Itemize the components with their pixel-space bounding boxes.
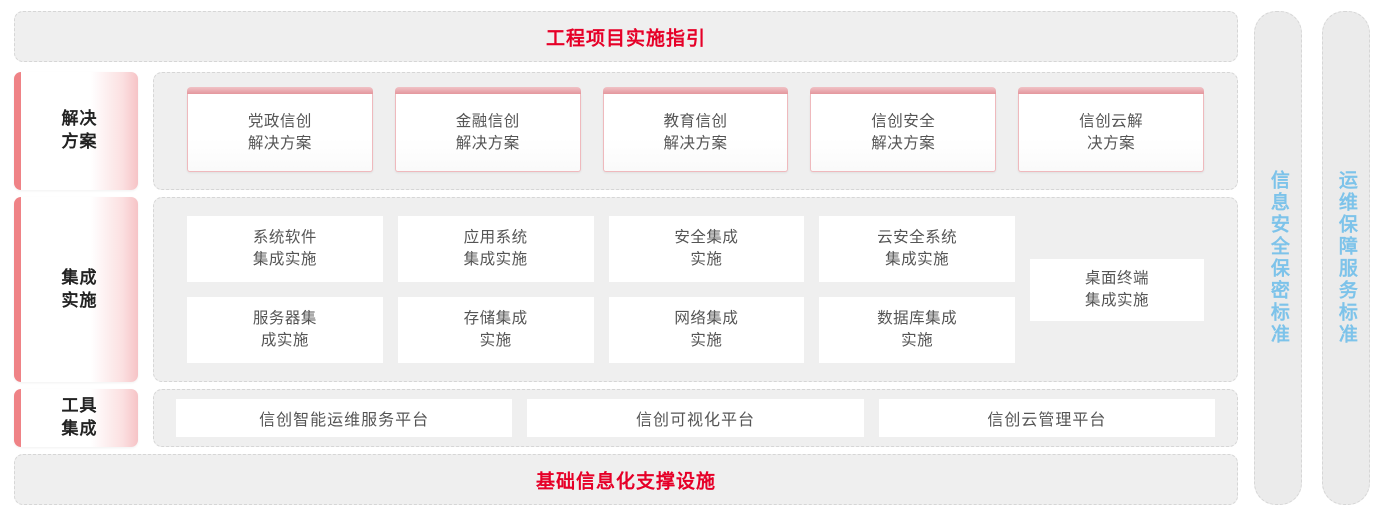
- integration-card-line1: 数据库集成: [877, 310, 957, 327]
- tool-card[interactable]: 信创智能运维服务平台: [176, 399, 512, 437]
- desktop-terminal-cell: 桌面终端 集成实施: [1030, 216, 1204, 363]
- solution-card-text: 党政信创 解决方案: [248, 111, 312, 155]
- integration-card-line2: 集成实施: [464, 251, 528, 268]
- solution-card-text: 教育信创 解决方案: [663, 111, 727, 155]
- integration-card-line2: 集成实施: [253, 251, 317, 268]
- solution-card-line1: 党政信创: [248, 113, 312, 130]
- solution-card[interactable]: 党政信创 解决方案: [187, 94, 373, 172]
- integration-card-line1: 系统软件: [253, 229, 317, 246]
- integration-card-line2: 成实施: [261, 332, 309, 349]
- desktop-card-line2: 集成实施: [1085, 292, 1149, 309]
- solution-card-line1: 信创云解: [1079, 113, 1143, 130]
- integration-card[interactable]: 云安全系统 集成实施: [819, 216, 1015, 282]
- solution-card-text: 金融信创 解决方案: [456, 111, 520, 155]
- tool-card[interactable]: 信创可视化平台: [527, 399, 863, 437]
- integration-card-line1: 应用系统: [464, 229, 528, 246]
- row-label-integration: 集成 实施: [14, 197, 138, 382]
- desktop-card-line1: 桌面终端: [1085, 270, 1149, 287]
- integration-card-text: 存储集成 实施: [464, 308, 528, 352]
- row-panel-tools: 信创智能运维服务平台 信创可视化平台 信创云管理平台: [153, 389, 1238, 447]
- integration-card-line2: 实施: [480, 332, 512, 349]
- footer-title: 基础信息化支撑设施: [15, 466, 1237, 493]
- integration-card-text: 服务器集 成实施: [253, 308, 317, 352]
- integration-card-line2: 实施: [690, 332, 722, 349]
- integration-card-line1: 网络集成: [674, 310, 738, 327]
- integration-card-line2: 集成实施: [885, 251, 949, 268]
- integration-card-grid: 系统软件 集成实施 应用系统 集成实施 安全: [187, 216, 1015, 363]
- row-panel-solution: 党政信创 解决方案 金融信创 解决方案 教育信创 解决方案: [153, 72, 1238, 190]
- desktop-card-text: 桌面终端 集成实施: [1085, 268, 1149, 312]
- integration-card[interactable]: 数据库集成 实施: [819, 297, 1015, 363]
- row-solution: 解决 方案 党政信创 解决方案 金融信创 解决方案: [14, 72, 1238, 190]
- integration-card[interactable]: 安全集成 实施: [609, 216, 805, 282]
- row-label-solution: 解决 方案: [14, 72, 138, 190]
- diagram-canvas: 工程项目实施指引 解决 方案 党政信创 解决方案: [0, 0, 1390, 515]
- solution-card-line1: 金融信创: [456, 113, 520, 130]
- solution-card-text: 信创安全 解决方案: [871, 111, 935, 155]
- integration-card-line2: 实施: [690, 251, 722, 268]
- row-integration: 集成 实施 系统软件 集成实施: [14, 197, 1238, 382]
- solution-card-line2: 决方案: [1087, 135, 1135, 152]
- main-column: 工程项目实施指引 解决 方案 党政信创 解决方案: [14, 11, 1238, 505]
- integration-card[interactable]: 服务器集 成实施: [187, 297, 383, 363]
- row-label-solution-line2: 方案: [62, 132, 98, 151]
- vertical-bar-ops-standard-label: 运维保障服务标准: [1332, 170, 1360, 346]
- solution-card-line2: 解决方案: [663, 135, 727, 152]
- row-label-tools-line1: 工具: [62, 396, 98, 415]
- footer-banner: 基础信息化支撑设施: [14, 454, 1238, 505]
- integration-card-line2: 实施: [901, 332, 933, 349]
- integration-card-text: 网络集成 实施: [674, 308, 738, 352]
- solution-card[interactable]: 信创安全 解决方案: [810, 94, 996, 172]
- tools-card-strip: 信创智能运维服务平台 信创可视化平台 信创云管理平台: [176, 399, 1215, 437]
- solution-card-line1: 教育信创: [663, 113, 727, 130]
- integration-card-desktop-terminal[interactable]: 桌面终端 集成实施: [1030, 259, 1204, 321]
- tool-card[interactable]: 信创云管理平台: [879, 399, 1215, 437]
- solution-card[interactable]: 信创云解 决方案: [1018, 94, 1204, 172]
- tool-card-label: 信创智能运维服务平台: [259, 406, 429, 430]
- solution-card-line2: 解决方案: [871, 135, 935, 152]
- vertical-bar-ops-standard: 运维保障服务标准: [1322, 11, 1370, 505]
- row-label-solution-text: 解决 方案: [55, 108, 98, 154]
- solution-card-line2: 解决方案: [456, 135, 520, 152]
- integration-card-text: 应用系统 集成实施: [464, 227, 528, 271]
- vertical-bar-security-standard: 信息安全保密标准: [1254, 11, 1302, 505]
- tool-card-label: 信创可视化平台: [636, 406, 755, 430]
- integration-card-line1: 服务器集: [253, 310, 317, 327]
- row-panel-integration: 系统软件 集成实施 应用系统 集成实施 安全: [153, 197, 1238, 382]
- integration-body: 系统软件 集成实施 应用系统 集成实施 安全: [187, 216, 1204, 363]
- solution-card[interactable]: 金融信创 解决方案: [395, 94, 581, 172]
- solution-card-line1: 信创安全: [871, 113, 935, 130]
- integration-card-text: 安全集成 实施: [674, 227, 738, 271]
- row-label-solution-line1: 解决: [62, 109, 98, 128]
- row-label-integration-line2: 实施: [62, 291, 98, 310]
- solution-card-strip: 党政信创 解决方案 金融信创 解决方案 教育信创 解决方案: [187, 94, 1204, 172]
- vertical-bar-security-standard-label: 信息安全保密标准: [1264, 170, 1292, 346]
- integration-card[interactable]: 系统软件 集成实施: [187, 216, 383, 282]
- integration-card-text: 数据库集成 实施: [877, 308, 957, 352]
- integration-card-text: 云安全系统 集成实施: [877, 227, 957, 271]
- row-label-tools-line2: 集成: [62, 419, 98, 438]
- tool-card-label: 信创云管理平台: [987, 406, 1106, 430]
- integration-card-text: 系统软件 集成实施: [253, 227, 317, 271]
- row-label-tools: 工具 集成: [14, 389, 138, 447]
- integration-card[interactable]: 应用系统 集成实施: [398, 216, 594, 282]
- integration-card-line1: 云安全系统: [877, 229, 957, 246]
- row-label-integration-text: 集成 实施: [55, 267, 98, 313]
- solution-card-text: 信创云解 决方案: [1079, 111, 1143, 155]
- row-label-integration-line1: 集成: [62, 268, 98, 287]
- solution-card-line2: 解决方案: [248, 135, 312, 152]
- page-title: 工程项目实施指引: [15, 23, 1237, 50]
- row-label-tools-text: 工具 集成: [55, 395, 98, 441]
- integration-card[interactable]: 网络集成 实施: [609, 297, 805, 363]
- integration-card-line1: 存储集成: [464, 310, 528, 327]
- integration-card-line1: 安全集成: [674, 229, 738, 246]
- solution-card[interactable]: 教育信创 解决方案: [603, 94, 789, 172]
- header-banner: 工程项目实施指引: [14, 11, 1238, 62]
- integration-card[interactable]: 存储集成 实施: [398, 297, 594, 363]
- row-tools: 工具 集成 信创智能运维服务平台 信创可视化平台 信创云管理平台: [14, 389, 1238, 447]
